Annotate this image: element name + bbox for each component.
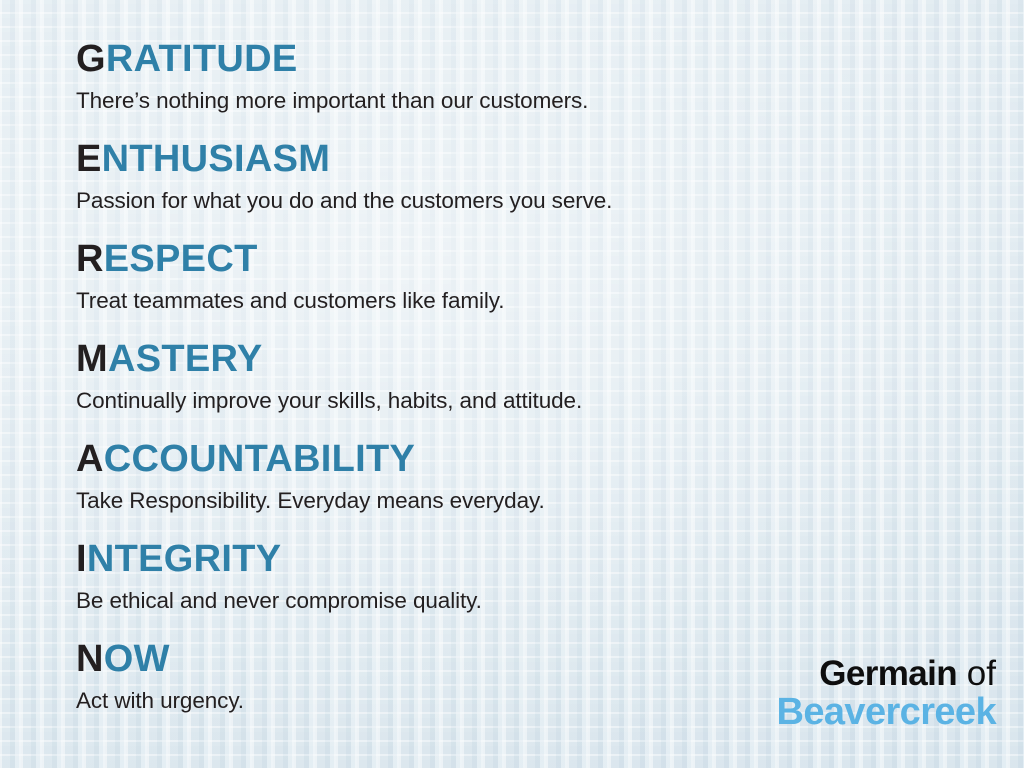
value-initial: R	[76, 238, 104, 280]
value-description: Passion for what you do and the customer…	[76, 190, 612, 213]
value-word-rest: NTEGRITY	[87, 538, 282, 580]
value-initial: M	[76, 338, 108, 380]
value-row: RESPECT Treat teammates and customers li…	[76, 240, 504, 313]
value-heading: RESPECT	[76, 240, 504, 278]
value-row: ACCOUNTABILITY Take Responsibility. Ever…	[76, 440, 545, 513]
value-heading: INTEGRITY	[76, 540, 482, 578]
value-description: There’s nothing more important than our …	[76, 90, 588, 113]
value-row: ENTHUSIASM Passion for what you do and t…	[76, 140, 612, 213]
value-heading: GRATITUDE	[76, 40, 588, 78]
value-row: MASTERY Continually improve your skills,…	[76, 340, 582, 413]
value-initial: I	[76, 538, 87, 580]
value-heading: ACCOUNTABILITY	[76, 440, 545, 478]
value-initial: G	[76, 38, 106, 80]
value-initial: E	[76, 138, 102, 180]
value-word-rest: ASTERY	[108, 338, 263, 380]
value-description: Act with urgency.	[76, 690, 244, 713]
value-description: Take Responsibility. Everyday means ever…	[76, 490, 545, 513]
value-word-rest: RATITUDE	[106, 38, 298, 80]
value-row: INTEGRITY Be ethical and never compromis…	[76, 540, 482, 613]
value-word-rest: CCOUNTABILITY	[104, 438, 415, 480]
value-row: GRATITUDE There’s nothing more important…	[76, 40, 588, 113]
logo-brand-name: Germain	[819, 654, 957, 693]
logo-connector: of	[957, 654, 996, 693]
value-word-rest: ESPECT	[104, 238, 258, 280]
value-initial: A	[76, 438, 104, 480]
poster-content: GRATITUDE There’s nothing more important…	[0, 0, 1024, 768]
logo-location: Beavercreek	[777, 693, 997, 732]
value-initial: N	[76, 638, 104, 680]
value-word-rest: OW	[104, 638, 170, 680]
value-heading: NOW	[76, 640, 244, 678]
value-description: Be ethical and never compromise quality.	[76, 590, 482, 613]
logo-line-primary: Germain of	[777, 656, 997, 692]
value-description: Treat teammates and customers like famil…	[76, 290, 504, 313]
value-word-rest: NTHUSIASM	[102, 138, 331, 180]
value-heading: MASTERY	[76, 340, 582, 378]
dealership-logo: Germain of Beavercreek	[777, 656, 997, 732]
value-row: NOW Act with urgency.	[76, 640, 244, 713]
value-description: Continually improve your skills, habits,…	[76, 390, 582, 413]
value-heading: ENTHUSIASM	[76, 140, 612, 178]
